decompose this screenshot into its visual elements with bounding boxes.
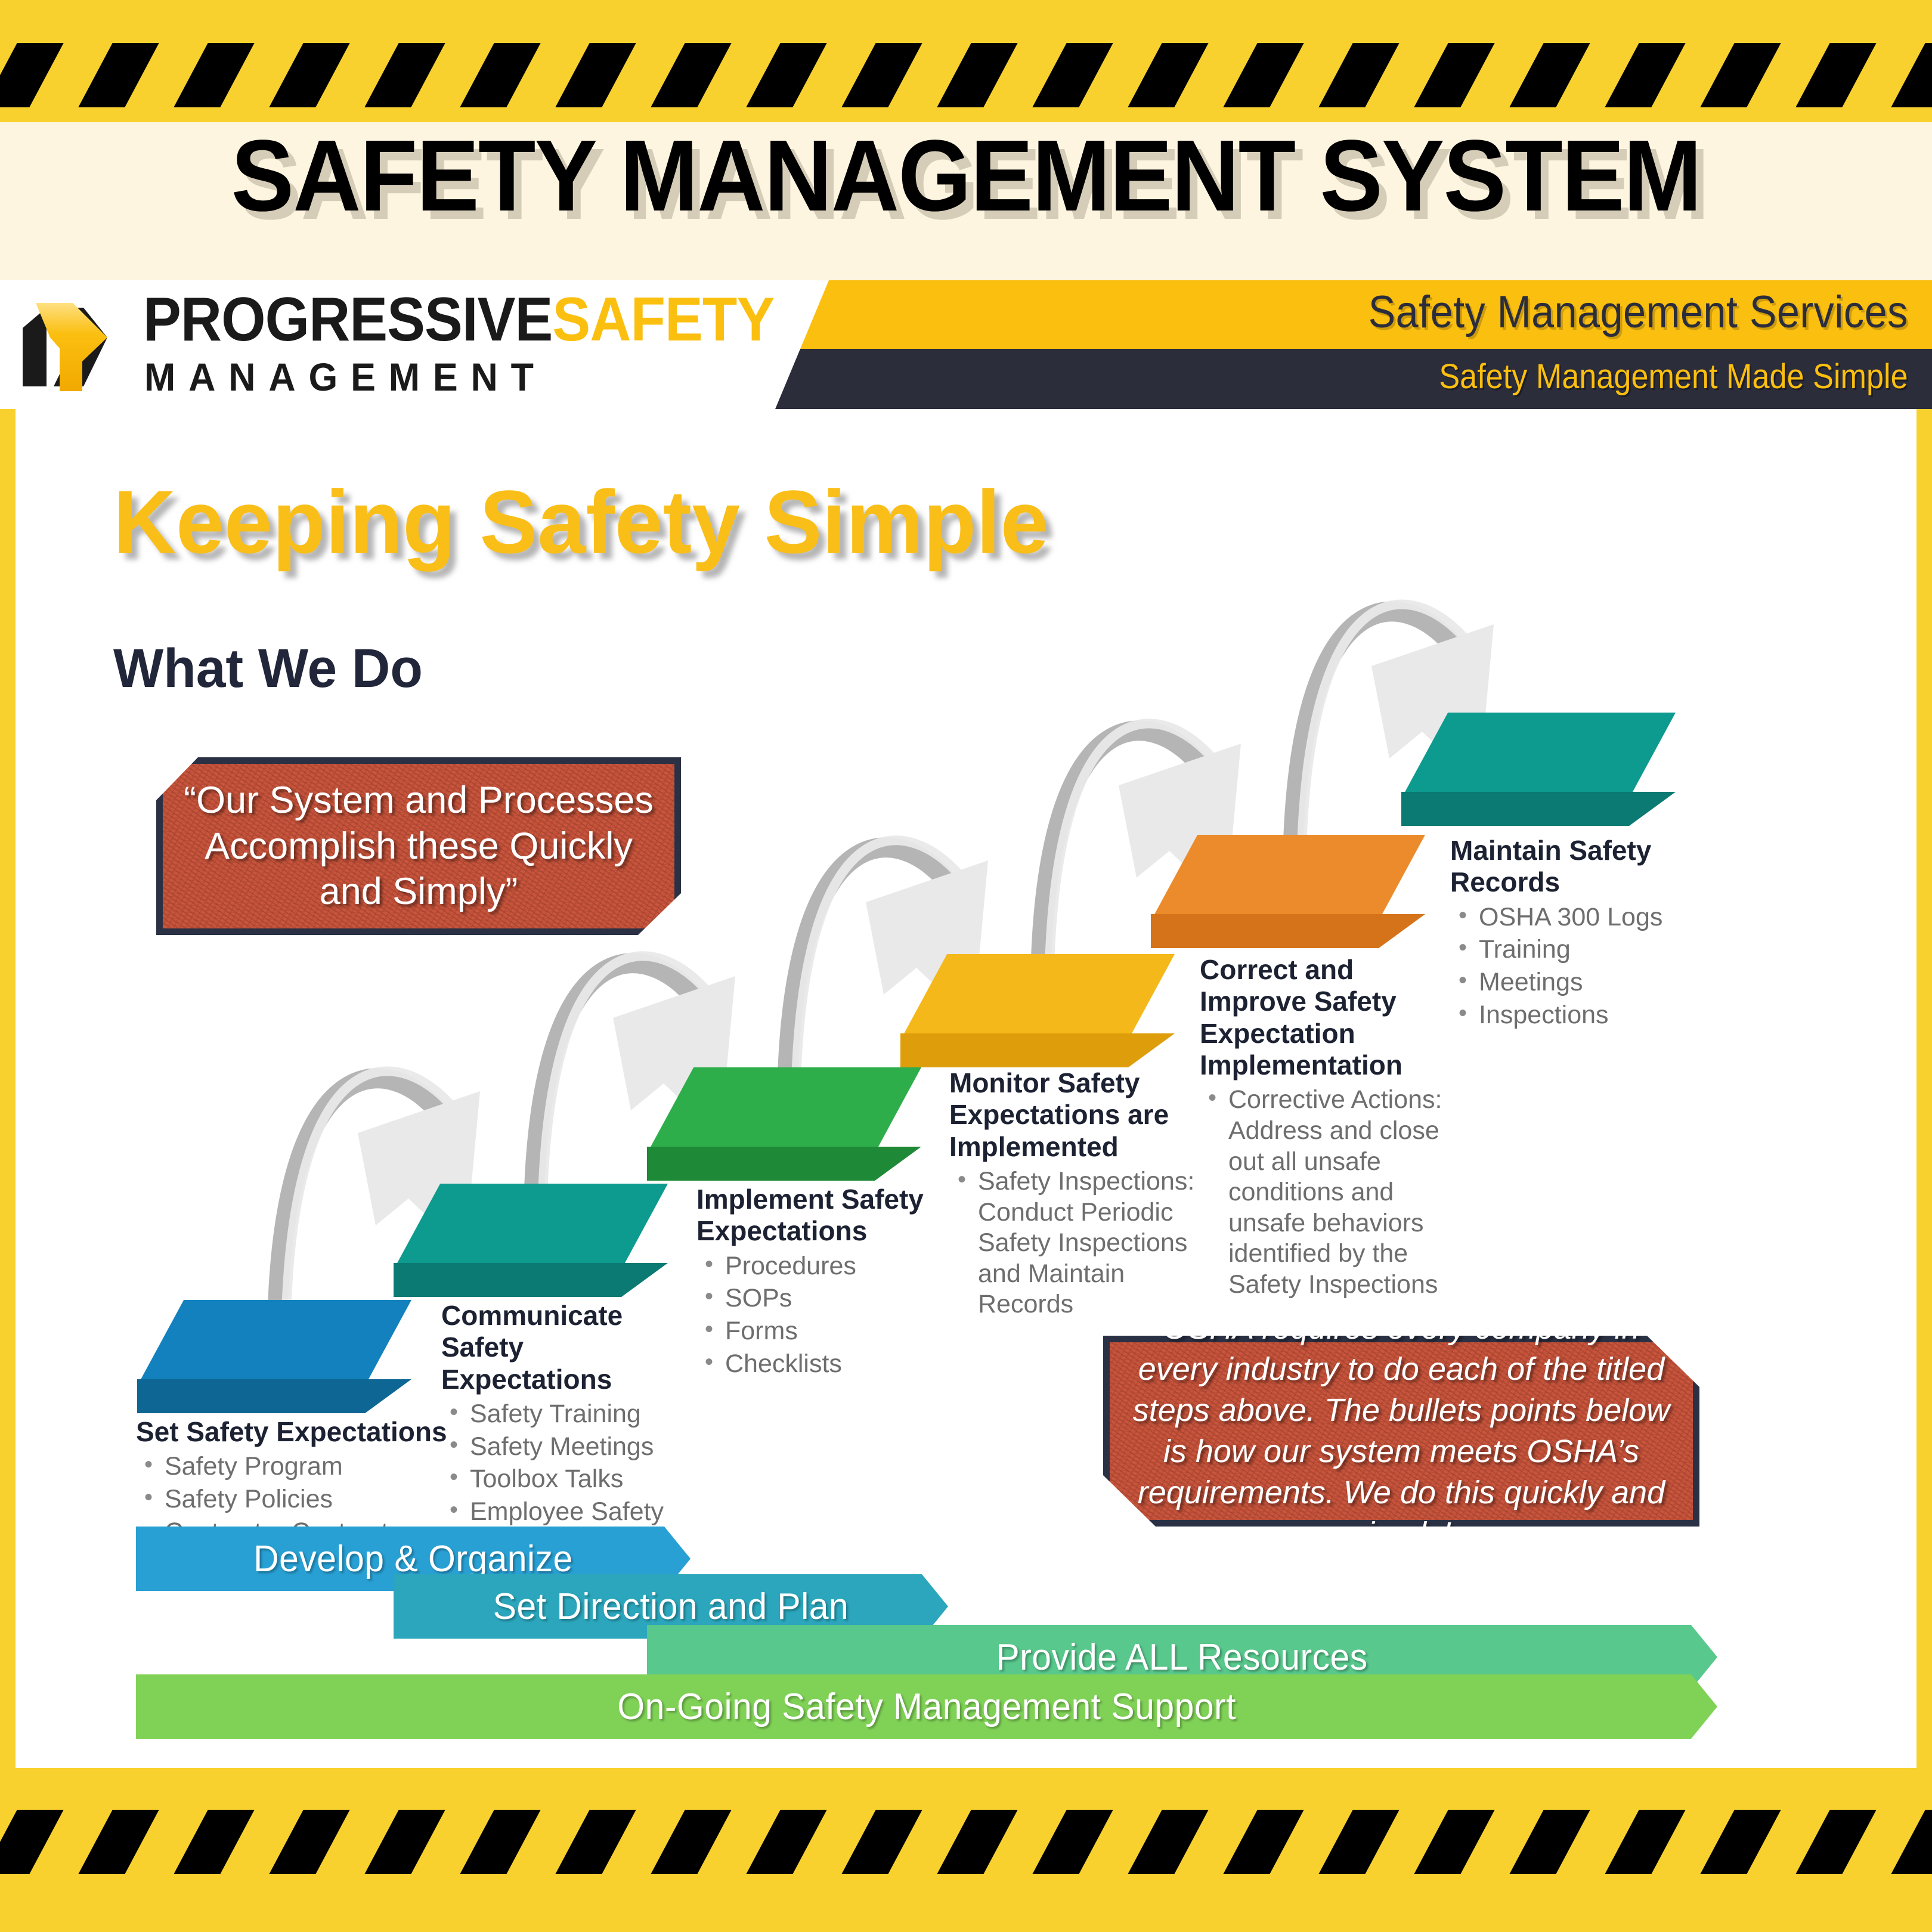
- step-platform-1: [137, 1300, 411, 1413]
- platform-top: [647, 1067, 921, 1153]
- list-item: Safety Training: [441, 1399, 692, 1430]
- step-text-5: Correct and Improve Safety Expectation I…: [1200, 954, 1456, 1302]
- list-item: Corrective Actions: Address and close ou…: [1200, 1085, 1456, 1300]
- list-item: Safety Meetings: [441, 1432, 692, 1463]
- step-platform-3: [647, 1067, 921, 1181]
- platform-side-right: [618, 1263, 668, 1297]
- step-title: Implement Safety Expectations: [696, 1184, 935, 1247]
- list-item: Procedures: [696, 1251, 935, 1282]
- step-title: Monitor Safety Expectations are Implemen…: [949, 1067, 1206, 1163]
- support-bar-ongoing-support[interactable]: On-Going Safety Management Support: [136, 1674, 1717, 1739]
- logo-word-progressive: PROGRESSIVE: [143, 285, 552, 354]
- callout-osha-box: OSHA requires every company in every ind…: [1103, 1336, 1699, 1527]
- platform-top: [1401, 713, 1676, 798]
- step-text-4: Monitor Safety Expectations are Implemen…: [949, 1067, 1206, 1322]
- logo-word-safety: SAFETY: [552, 285, 774, 354]
- callout-quote-box: “Our System and Processes Accomplish the…: [156, 757, 681, 935]
- step-platform-6: [1401, 713, 1676, 826]
- list-item: Safety Policies: [136, 1484, 458, 1515]
- platform-side-right: [1125, 1033, 1175, 1067]
- list-item: Forms: [696, 1316, 935, 1347]
- platform-side: [647, 1147, 875, 1181]
- step-platform-2: [394, 1184, 668, 1297]
- list-item: SOPs: [696, 1283, 935, 1314]
- platform-side: [1151, 914, 1379, 948]
- platform-side-right: [1626, 792, 1676, 826]
- chevron-arrow-logo-icon: [18, 291, 131, 398]
- step-title: Set Safety Expectations: [136, 1416, 458, 1448]
- platform-top: [900, 954, 1175, 1040]
- step-text-3: Implement Safety Expectations Procedures…: [696, 1184, 935, 1381]
- support-bar-label: Develop & Organize: [253, 1538, 573, 1580]
- step-platform-5: [1151, 835, 1425, 948]
- platform-side-right: [1376, 914, 1425, 948]
- list-item: OSHA 300 Logs: [1450, 902, 1730, 933]
- step-text-2: Communicate Safety Expectations Safety T…: [441, 1300, 692, 1560]
- support-bar-label: On-Going Safety Management Support: [617, 1686, 1236, 1728]
- poster-canvas: SAFETY MANAGEMENT SYSTEM: [0, 0, 1932, 1932]
- list-item: Checklists: [696, 1349, 935, 1380]
- platform-side: [900, 1033, 1128, 1067]
- callout-quote-text: “Our System and Processes Accomplish the…: [163, 778, 674, 915]
- platform-side-right: [362, 1379, 411, 1413]
- step-bullets: Procedures SOPs Forms Checklists: [696, 1251, 935, 1379]
- step-title: Maintain Safety Records: [1450, 835, 1730, 899]
- list-item: Meetings: [1450, 967, 1730, 998]
- platform-top: [1151, 835, 1425, 921]
- platform-top: [137, 1300, 411, 1386]
- support-bar-label: Provide ALL Resources: [996, 1636, 1368, 1679]
- step-bullets: Safety Inspections: Conduct Periodic Saf…: [949, 1166, 1206, 1320]
- callout-osha-text: OSHA requires every company in every ind…: [1110, 1308, 1693, 1555]
- support-bar-label: Set Direction and Plan: [493, 1586, 849, 1628]
- step-bullets: OSHA 300 Logs Training Meetings Inspecti…: [1450, 902, 1730, 1030]
- platform-side: [1401, 792, 1629, 826]
- list-item: Inspections: [1450, 1000, 1730, 1031]
- platform-side-right: [872, 1147, 921, 1181]
- platform-side: [137, 1379, 365, 1413]
- step-title: Correct and Improve Safety Expectation I…: [1200, 954, 1456, 1081]
- step-platform-4: [900, 954, 1175, 1067]
- list-item: Safety Inspections: Conduct Periodic Saf…: [949, 1166, 1206, 1320]
- step-title: Communicate Safety Expectations: [441, 1300, 692, 1395]
- list-item: Toolbox Talks: [441, 1464, 692, 1495]
- step-text-6: Maintain Safety Records OSHA 300 Logs Tr…: [1450, 835, 1730, 1032]
- platform-side: [394, 1263, 621, 1297]
- step-bullets: Corrective Actions: Address and close ou…: [1200, 1085, 1456, 1300]
- logo-wordmark: PROGRESSIVESAFETY: [143, 289, 774, 351]
- list-item: Training: [1450, 934, 1730, 965]
- logo-subword-management: MANAGEMENT: [144, 354, 547, 400]
- list-item: Safety Program: [136, 1451, 458, 1482]
- platform-top: [394, 1184, 668, 1270]
- company-logo[interactable]: PROGRESSIVESAFETY MANAGEMENT: [18, 285, 763, 404]
